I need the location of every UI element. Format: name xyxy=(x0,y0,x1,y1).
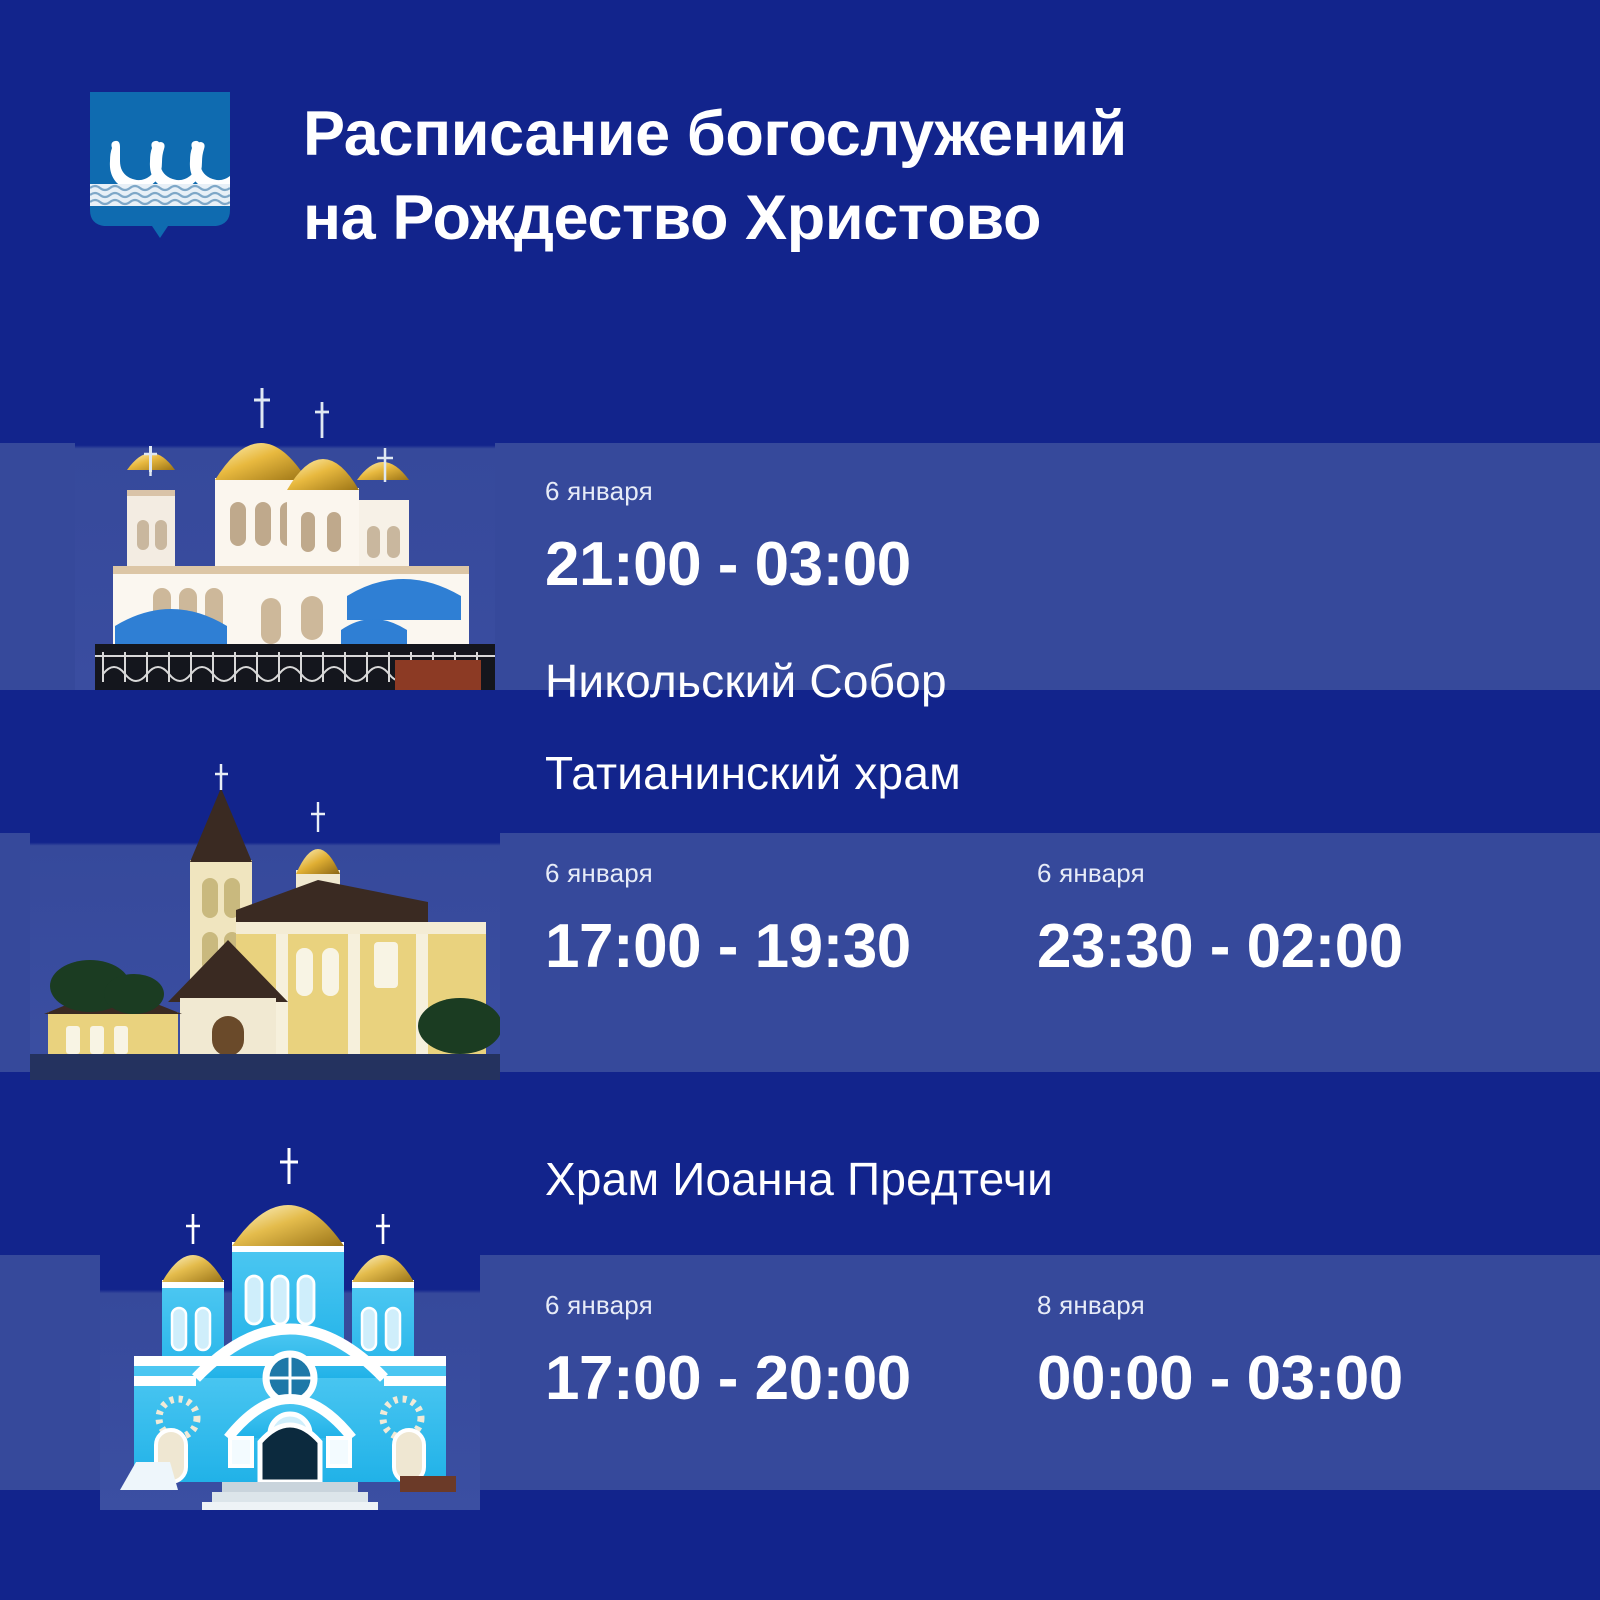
service-date: 6 января xyxy=(545,476,911,507)
ioanna-predtechi-church-photo xyxy=(100,1130,480,1510)
tatianinsky-church-photo xyxy=(30,750,500,1080)
service-date: 8 января xyxy=(1037,1290,1403,1321)
service-time: 23:30 - 02:00 xyxy=(1037,911,1403,982)
service-time: 00:00 - 03:00 xyxy=(1037,1343,1403,1414)
service-slot: 6 января 21:00 - 03:00 xyxy=(545,476,911,600)
church-name: Татианинский храм xyxy=(545,746,961,800)
page-title: Расписание богослужений на Рождество Хри… xyxy=(303,92,1523,261)
service-slot: 6 января 17:00 - 19:30 xyxy=(545,858,911,982)
service-date: 6 января xyxy=(1037,858,1403,889)
service-date: 6 января xyxy=(545,1290,911,1321)
nikolsky-cathedral-photo xyxy=(75,330,495,690)
service-schedule-poster: Расписание богослужений на Рождество Хри… xyxy=(0,0,1600,1600)
schedule-section: Храм Иоанна Предтечи 6 января 17:00 - 20… xyxy=(0,1090,1600,1510)
page-title-line-2: на Рождество Христово xyxy=(303,176,1523,260)
service-slot: 8 января 00:00 - 03:00 xyxy=(1037,1290,1403,1414)
service-time: 21:00 - 03:00 xyxy=(545,529,911,600)
page-title-line-1: Расписание богослужений xyxy=(303,92,1523,176)
schedule-section: Татианинский храм 6 января 17:00 - 19:30… xyxy=(0,700,1600,1090)
service-slot: 6 января 17:00 - 20:00 xyxy=(545,1290,911,1414)
service-time: 17:00 - 20:00 xyxy=(545,1343,911,1414)
service-slot: 6 января 23:30 - 02:00 xyxy=(1037,858,1403,982)
service-date: 6 января xyxy=(545,858,911,889)
schedule-section: Никольский Собор 6 января 21:00 - 03:00 xyxy=(0,300,1600,700)
church-name: Храм Иоанна Предтечи xyxy=(545,1152,1053,1206)
service-time: 17:00 - 19:30 xyxy=(545,911,911,982)
coat-of-arms-icon xyxy=(90,92,230,252)
poster-header: Расписание богослужений на Рождество Хри… xyxy=(0,0,1600,300)
